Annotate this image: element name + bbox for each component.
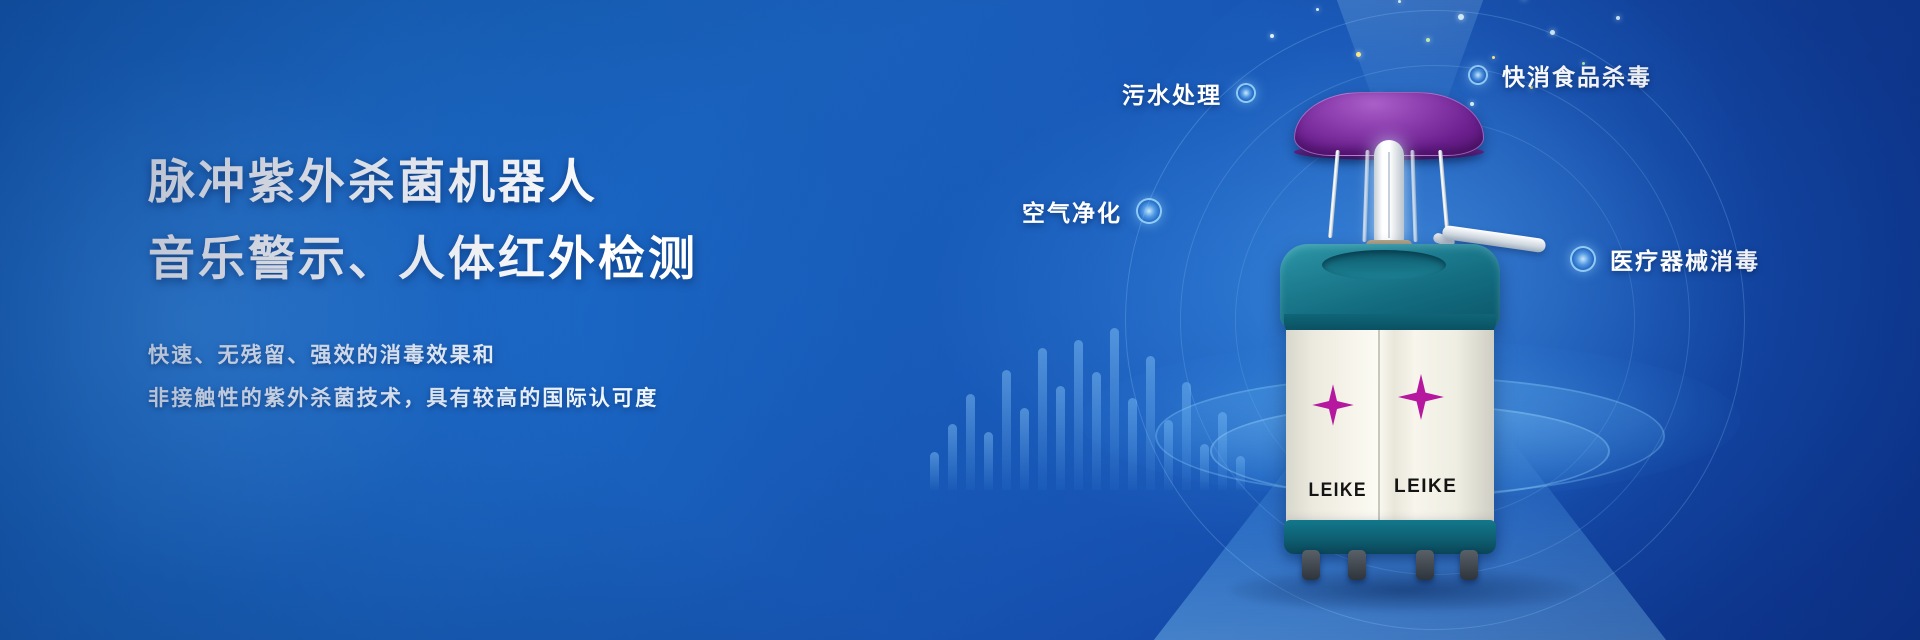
node-dot-icon xyxy=(1570,246,1596,272)
headline-line-1: 脉冲紫外杀菌机器人 xyxy=(148,150,848,215)
node-dot-icon xyxy=(1236,83,1256,103)
product-banner: LEIKE LEIKE 污水处理 快消食品杀毒 空气净化 医疗器械消毒 脉冲紫外… xyxy=(0,0,1920,640)
node-dot-icon xyxy=(1136,198,1162,224)
callout-food-sterilization: 快消食品杀毒 xyxy=(1468,58,1652,92)
callout-air-purification: 空气净化 xyxy=(1022,194,1162,228)
caster-wheel-icon xyxy=(1302,550,1320,580)
device-top-recess xyxy=(1322,250,1446,280)
description-line-1: 快速、无残留、强效的消毒效果和 xyxy=(148,334,848,377)
uv-lamp-seam xyxy=(1388,152,1390,238)
equalizer-decoration xyxy=(930,328,1245,490)
lamp-strut xyxy=(1362,150,1369,242)
caster-wheel-icon xyxy=(1460,550,1478,580)
description-block: 快速、无残留、强效的消毒效果和 非接触性的紫外杀菌技术，具有较高的国际认可度 xyxy=(148,334,848,420)
banner-copy-block: 脉冲紫外杀菌机器人 音乐警示、人体红外检测 快速、无残留、强效的消毒效果和 非接… xyxy=(148,150,848,420)
device-brand-left: LEIKE xyxy=(1309,480,1367,502)
headline-line-2: 音乐警示、人体红外检测 xyxy=(148,227,848,292)
description-line-2: 非接触性的紫外杀菌技术，具有较高的国际认可度 xyxy=(148,377,848,420)
callout-wastewater: 污水处理 xyxy=(1122,76,1256,110)
four-point-star-icon xyxy=(1398,374,1444,420)
device-body-fold xyxy=(1378,330,1380,524)
callout-label: 快消食品杀毒 xyxy=(1502,58,1652,92)
device-base xyxy=(1284,520,1496,554)
lamp-strut xyxy=(1410,150,1417,242)
callout-medical-disinfection: 医疗器械消毒 xyxy=(1570,242,1760,276)
uv-robot-illustration: LEIKE LEIKE xyxy=(1270,92,1530,582)
device-brand-right: LEIKE xyxy=(1394,476,1457,498)
caster-wheel-icon xyxy=(1348,550,1366,580)
callout-label: 医疗器械消毒 xyxy=(1610,242,1760,276)
lamp-strut xyxy=(1328,150,1340,238)
caster-wheel-icon xyxy=(1416,550,1434,580)
node-dot-icon xyxy=(1468,65,1488,85)
four-point-star-icon xyxy=(1312,384,1353,425)
callout-label: 空气净化 xyxy=(1022,194,1122,228)
callout-label: 污水处理 xyxy=(1122,76,1222,110)
